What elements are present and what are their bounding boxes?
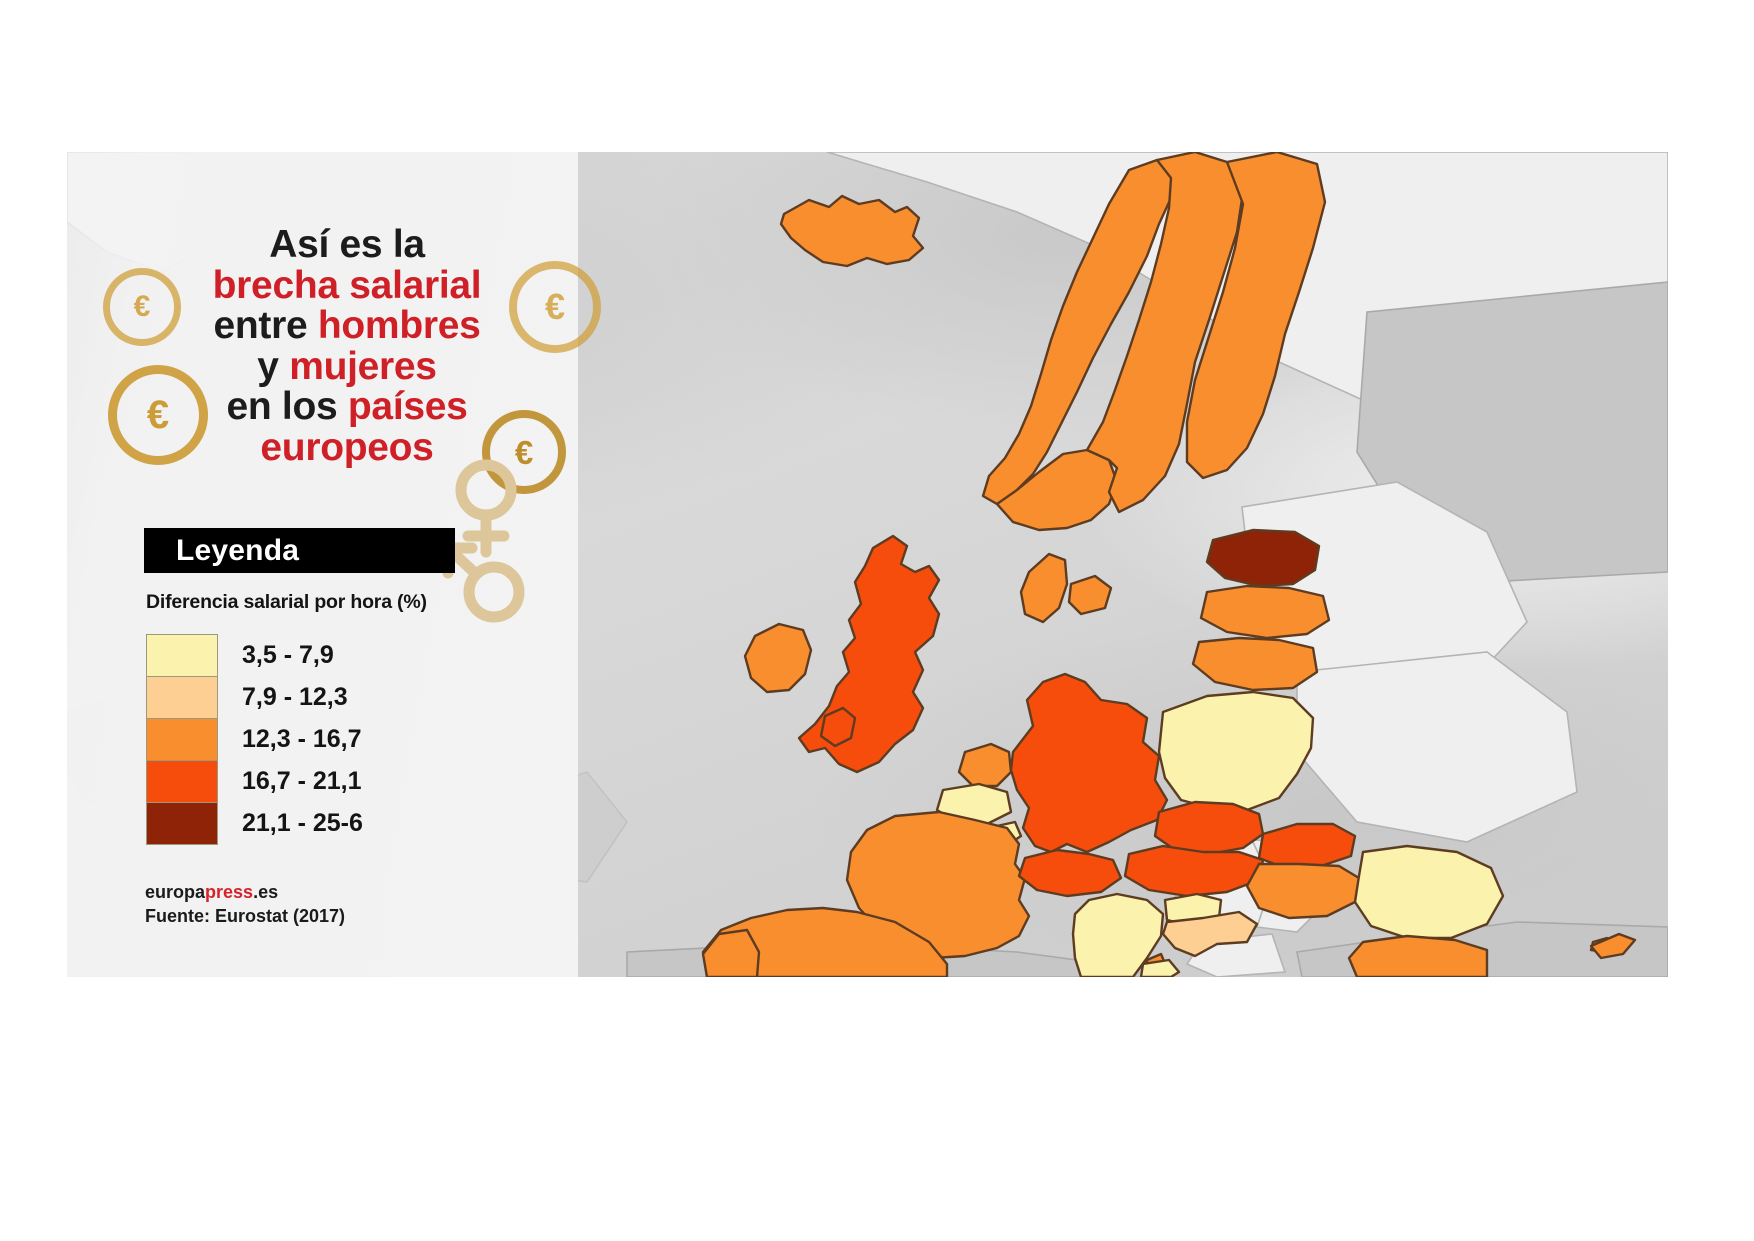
country-slovakia <box>1259 824 1355 868</box>
legend-title-text: Leyenda <box>176 534 299 568</box>
headline-line-5b: países <box>348 385 468 428</box>
legend-label-3: 16,7 - 21,1 <box>242 760 363 802</box>
euro-glyph: € <box>517 269 593 345</box>
headline-line-3b: hombres <box>318 304 481 347</box>
country-portugal <box>703 930 759 977</box>
headline-line-4b: mujeres <box>289 345 436 388</box>
legend-label-0: 3,5 - 7,9 <box>242 634 363 676</box>
country-romania <box>1355 846 1503 938</box>
country-ireland <box>745 624 811 692</box>
country-denmark-isles <box>1069 576 1111 614</box>
page-title: Así es la brecha salarial entre hombres … <box>167 225 527 468</box>
brand-logo[interactable]: europapress.es <box>145 880 345 904</box>
footer: europapress.es Fuente: Eurostat (2017) <box>145 880 345 929</box>
legend: Leyenda Diferencia salarial por hora (%)… <box>144 528 544 845</box>
legend-title-bar: Leyenda <box>144 528 455 573</box>
headline-line-3a: entre <box>213 304 317 347</box>
brand-part-press: press <box>205 882 253 902</box>
country-denmark <box>1021 554 1067 622</box>
left-text-panel: € € € € Así es la brecha salarial entre … <box>67 152 578 977</box>
legend-label-column: 3,5 - 7,9 7,9 - 12,3 12,3 - 16,7 16,7 - … <box>218 634 363 845</box>
country-estonia <box>1207 530 1319 586</box>
legend-swatch-4[interactable] <box>147 803 217 844</box>
country-lithuania <box>1193 638 1317 690</box>
country-poland <box>1159 692 1313 810</box>
legend-swatch-3[interactable] <box>147 761 217 803</box>
legend-items: 3,5 - 7,9 7,9 - 12,3 12,3 - 16,7 16,7 - … <box>146 634 544 845</box>
headline-line-4a: y <box>257 345 289 388</box>
infographic-root: .cty{stroke:#5d3c22;stroke-width:2.4;str… <box>67 152 1668 977</box>
country-germany <box>1011 674 1167 852</box>
country-iceland <box>781 196 923 266</box>
source-credit: Fuente: Eurostat (2017) <box>145 904 345 928</box>
brand-part-tld: .es <box>253 882 278 902</box>
legend-swatch-column <box>146 634 218 845</box>
headline-line-6: europeos <box>260 426 433 469</box>
brand-part-europa: europa <box>145 882 205 902</box>
legend-label-4: 21,1 - 25-6 <box>242 802 363 844</box>
country-netherlands <box>959 744 1011 786</box>
headline-line-5a: en los <box>226 385 347 428</box>
headline-line-2: brecha salarial <box>213 264 482 307</box>
country-italy-sicily <box>1141 960 1179 977</box>
legend-label-2: 12,3 - 16,7 <box>242 718 363 760</box>
country-switzerland <box>1019 850 1121 896</box>
legend-label-1: 7,9 - 12,3 <box>242 676 363 718</box>
legend-swatch-1[interactable] <box>147 677 217 719</box>
legend-swatch-2[interactable] <box>147 719 217 761</box>
legend-swatch-0[interactable] <box>147 635 217 677</box>
legend-subtitle: Diferencia salarial por hora (%) <box>146 591 544 614</box>
country-hungary <box>1247 864 1359 918</box>
euro-glyph: € <box>110 275 174 339</box>
headline-line-1: Así es la <box>269 223 425 266</box>
country-latvia <box>1201 586 1329 638</box>
